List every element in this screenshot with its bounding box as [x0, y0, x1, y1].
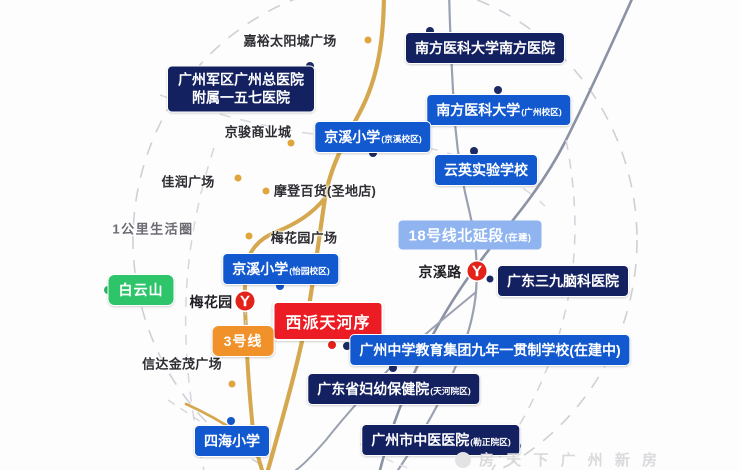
- badge-sub-text: (勒正院区): [470, 436, 510, 448]
- map-badge-metro-line-3[interactable]: 3号线: [212, 325, 275, 357]
- poi-dot-dot-modern-store[interactable]: [263, 188, 270, 195]
- map-label-jiarun-plaza: 佳润广场: [161, 172, 214, 191]
- map-badge-jingxi-primary-jingxi[interactable]: 京溪小学(京溪校区): [314, 121, 431, 153]
- badge-main-text: 广州中学教育集团九年一贯制学校(在建中): [359, 340, 620, 360]
- poi-dot-dot-xipai[interactable]: [328, 341, 336, 349]
- badge-main-text: 18号线北延段: [409, 225, 504, 246]
- map-label-jingxi-road-station-name: 京溪路: [419, 262, 462, 282]
- badge-line-2: 附属一五七医院: [178, 89, 304, 107]
- poi-dot-dot-jiayu[interactable]: [365, 37, 372, 44]
- poi-dot-dot-nanfang-univ[interactable]: [494, 86, 502, 94]
- map-label-xinda-jinmao-plaza: 信达金茂广场: [142, 354, 222, 373]
- map-badge-jingxi-primary-yiyuan[interactable]: 京溪小学(怡园校区): [222, 253, 339, 285]
- badge-sub-text: (天河院区): [430, 385, 470, 397]
- badge-main-text: 京溪小学: [232, 259, 288, 279]
- badge-main-text: 西派天河序: [285, 309, 370, 333]
- badge-sub-text: (怡园校区): [289, 265, 329, 277]
- map-label-jiayu-sun-city-plaza: 嘉裕太阳城广场: [243, 31, 336, 50]
- map-badge-gz-military-hospital[interactable]: 广州军区广州总医院附属一五七医院: [167, 66, 315, 113]
- badge-sub-text: (在建): [505, 230, 532, 244]
- poi-dot-dot-jingxi-road-poi[interactable]: [487, 276, 494, 283]
- badge-main-text: 四海小学: [204, 431, 260, 451]
- badge-main-text: 南方医科大学南方医院: [415, 38, 555, 58]
- badge-main-text: 云英实验学校: [444, 160, 528, 180]
- badge-main-text: 南方医科大学: [436, 100, 520, 120]
- map-label-meihuayuan-plaza: 梅花园广场: [271, 228, 338, 247]
- poi-dot-dot-xinda-jinmao[interactable]: [229, 381, 236, 388]
- badge-main-text: 京溪小学: [324, 127, 380, 147]
- metro-station-icon-meihuayuan-station[interactable]: [236, 292, 255, 311]
- map-label-modern-department-store: 摩登百货(圣地店): [274, 181, 376, 200]
- badge-main-text: 广州市中医医院: [371, 430, 469, 450]
- badge-sub-text: (京溪校区): [381, 133, 421, 145]
- poi-dot-dot-jiarun[interactable]: [235, 175, 242, 182]
- badge-sub-text: (广州校区): [521, 106, 561, 118]
- map-badge-nanfang-hospital[interactable]: 南方医科大学南方医院: [405, 32, 565, 64]
- map-label-jingjun-commercial-city: 京骏商业城: [225, 122, 292, 141]
- map-label-meihuayuan-station-name: 梅花园: [190, 292, 233, 312]
- map-canvas[interactable]: 嘉裕太阳城广场京骏商业城佳润广场摩登百货(圣地店)1公里生活圈梅花园广场京溪路梅…: [0, 0, 740, 470]
- map-badge-yunying-experimental-school[interactable]: 云英实验学校: [434, 154, 538, 186]
- map-badge-sihai-primary-school[interactable]: 四海小学: [194, 425, 270, 457]
- poi-dot-dot-jingjun[interactable]: [288, 140, 295, 147]
- metro-station-icon-jingxi-road-station[interactable]: [468, 262, 487, 281]
- map-badge-gz-middle-school-nine-year[interactable]: 广州中学教育集团九年一贯制学校(在建中): [349, 334, 630, 366]
- poi-dot-dot-meihuayuan-plaza[interactable]: [246, 233, 253, 240]
- poi-dot-dot-sihai[interactable]: [227, 417, 235, 425]
- map-badge-guangdong-999-brain-hospital[interactable]: 广东三九脑科医院: [497, 265, 629, 297]
- map-label-living-circle: 1公里生活圈: [112, 219, 193, 238]
- badge-main-text: 3号线: [224, 331, 263, 351]
- map-badge-metro-line-18-north-extension[interactable]: 18号线北延段(在建): [399, 221, 542, 250]
- badge-main-text: 广东省妇幼保健院: [317, 379, 429, 399]
- badge-line-1: 广州军区广州总医院: [178, 72, 304, 90]
- map-badge-baiyun-mountain[interactable]: 白云山: [108, 274, 175, 306]
- badge-main-text: 白云山: [119, 280, 164, 300]
- map-badge-gz-tcm-hospital[interactable]: 广州市中医医院(勒正院区): [361, 424, 520, 456]
- map-badge-guangdong-maternal-child-hospital[interactable]: 广东省妇幼保健院(天河院区): [307, 373, 480, 405]
- badge-main-text: 广东三九脑科医院: [507, 271, 619, 291]
- map-badge-nanfang-medical-university[interactable]: 南方医科大学(广州校区): [426, 94, 571, 126]
